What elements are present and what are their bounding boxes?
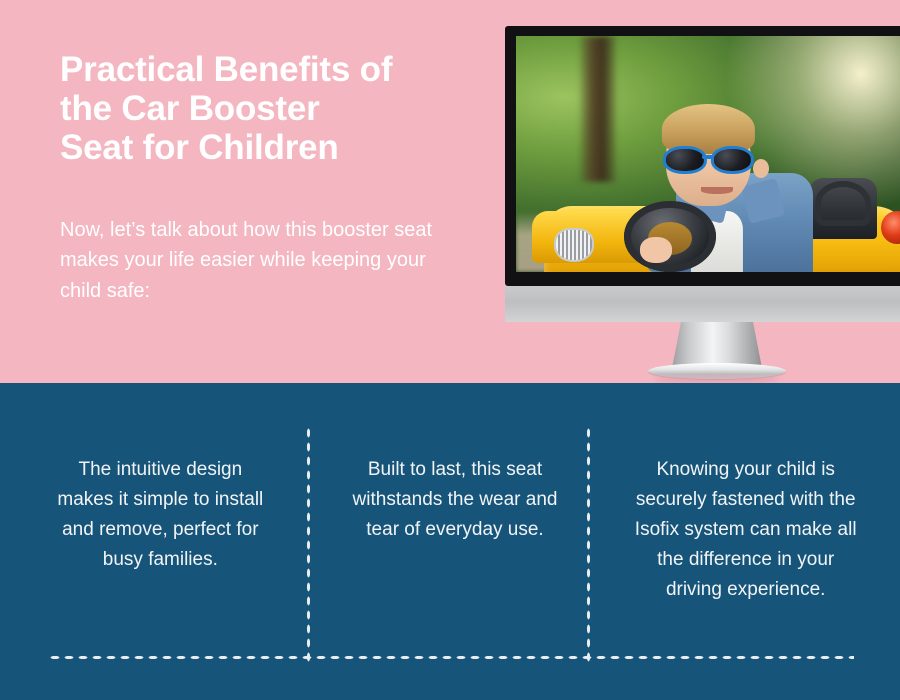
infographic-root: Practical Benefits of the Car Booster Se… bbox=[0, 0, 900, 700]
monitor-chin bbox=[505, 286, 900, 322]
child-hand bbox=[640, 237, 672, 263]
dotted-divider-left bbox=[306, 426, 311, 664]
monitor-bezel bbox=[505, 26, 900, 286]
page-title-line-2: the Car Booster bbox=[60, 89, 480, 128]
page-title: Practical Benefits of the Car Booster Se… bbox=[60, 50, 480, 168]
monitor-stand-shadow bbox=[655, 375, 779, 383]
sunglasses-lens-right bbox=[714, 149, 751, 170]
page-title-line-3: Seat for Children bbox=[60, 128, 480, 167]
benefit-text: The intuitive design makes it simple to … bbox=[48, 455, 273, 575]
dotted-divider-bottom bbox=[48, 655, 854, 660]
page-title-line-1: Practical Benefits of bbox=[60, 50, 480, 89]
benefit-item-easy-install: The intuitive design makes it simple to … bbox=[0, 383, 307, 623]
tree-trunk-shape bbox=[580, 36, 616, 182]
child-ear bbox=[753, 159, 769, 178]
monitor-screen bbox=[516, 36, 900, 272]
toy-car-grille bbox=[556, 230, 592, 261]
child-in-toy-car-photo bbox=[516, 36, 900, 272]
page-subtitle: Now, let’s talk about how this booster s… bbox=[60, 215, 472, 306]
benefit-text: Knowing your child is securely fastened … bbox=[633, 455, 858, 605]
benefits-section: The intuitive design makes it simple to … bbox=[0, 383, 900, 700]
monitor-illustration bbox=[505, 26, 900, 376]
sunglasses-lens-left bbox=[666, 149, 703, 170]
monitor-stand-neck bbox=[672, 322, 762, 368]
child-hair bbox=[662, 104, 754, 154]
benefit-text: Built to last, this seat withstands the … bbox=[343, 455, 568, 545]
toy-car-seat-handle bbox=[821, 187, 865, 220]
header-section: Practical Benefits of the Car Booster Se… bbox=[0, 0, 900, 383]
benefit-item-durability: Built to last, this seat withstands the … bbox=[307, 383, 604, 623]
benefit-item-isofix-security: Knowing your child is securely fastened … bbox=[603, 383, 900, 623]
sunglasses-icon bbox=[666, 149, 750, 170]
benefits-columns: The intuitive design makes it simple to … bbox=[0, 383, 900, 623]
dotted-divider-right bbox=[586, 426, 591, 664]
